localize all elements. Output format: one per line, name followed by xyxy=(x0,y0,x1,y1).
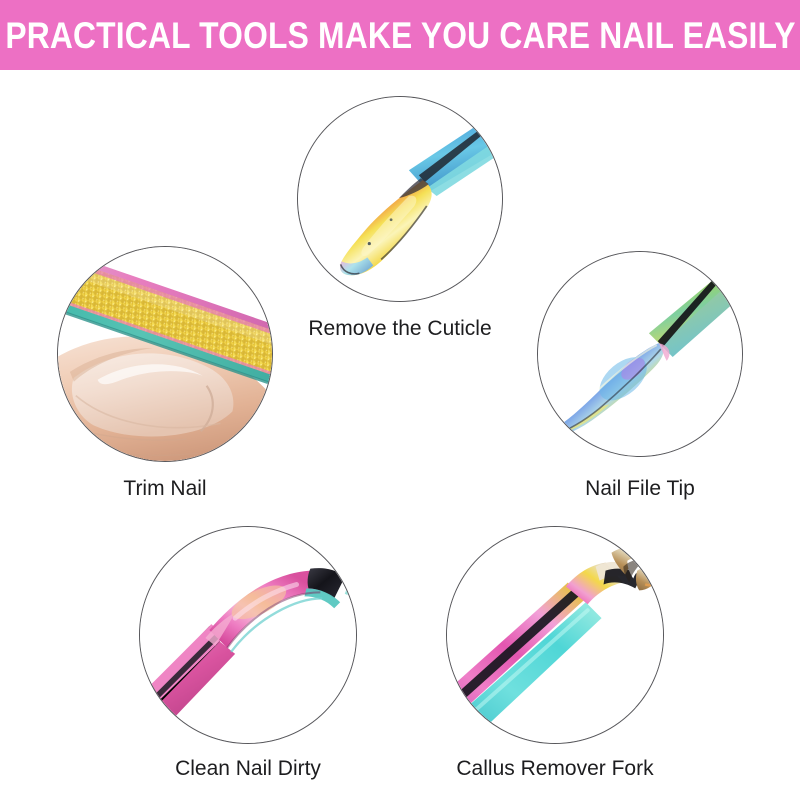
tile-label-trim-nail: Trim Nail xyxy=(123,478,206,499)
tile-label-clean-nail-dirty: Clean Nail Dirty xyxy=(175,758,321,779)
product-feature-clean-nail-dirty: Clean Nail Dirty xyxy=(139,526,357,744)
product-feature-remove-cuticle: Remove the Cuticle xyxy=(297,96,503,302)
photo-circle-remove-cuticle xyxy=(297,96,503,302)
tile-label-callus-remover: Callus Remover Fork xyxy=(456,758,653,779)
photo-circle-trim-nail xyxy=(57,246,273,462)
product-feature-nail-file-tip: Nail File Tip xyxy=(537,251,743,457)
page-title: PRACTICAL TOOLS MAKE YOU CARE NAIL EASIL… xyxy=(5,17,795,54)
photo-circle-nail-file-tip xyxy=(537,251,743,457)
product-feature-callus-remover: Callus Remover Fork xyxy=(446,526,664,744)
tile-label-remove-cuticle: Remove the Cuticle xyxy=(308,318,491,339)
tile-label-nail-file-tip: Nail File Tip xyxy=(585,478,695,499)
header-banner: PRACTICAL TOOLS MAKE YOU CARE NAIL EASIL… xyxy=(0,0,800,70)
product-feature-trim-nail: Trim Nail xyxy=(57,246,273,462)
infographic-page: PRACTICAL TOOLS MAKE YOU CARE NAIL EASIL… xyxy=(0,0,800,800)
photo-circle-callus-remover xyxy=(446,526,664,744)
photo-circle-clean-nail-dirty xyxy=(139,526,357,744)
